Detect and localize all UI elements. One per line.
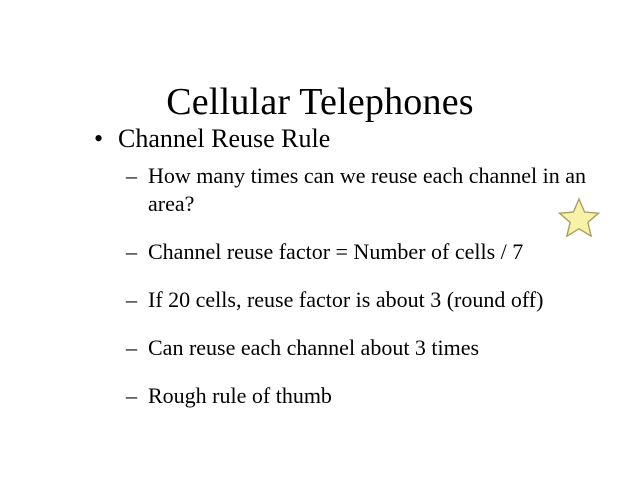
bullet-dash-icon: –	[126, 286, 137, 314]
bullet-level2-label: Can reuse each channel about 3 times	[148, 334, 600, 362]
list-item: – Can reuse each channel about 3 times	[0, 334, 640, 362]
presentation-slide: Cellular Telephones • Channel Reuse Rule…	[0, 0, 640, 480]
list-item: – If 20 cells, reuse factor is about 3 (…	[0, 286, 640, 314]
page-title: Cellular Telephones	[0, 79, 640, 125]
bullet-dash-icon: –	[126, 238, 137, 266]
bullet-dash-icon: –	[126, 382, 137, 410]
bullet-level2-label: Channel reuse factor = Number of cells /…	[148, 238, 600, 266]
list-item: – Channel reuse factor = Number of cells…	[0, 238, 640, 266]
bullet-level1-item: • Channel Reuse Rule	[0, 122, 640, 156]
bullet-level2-label: Rough rule of thumb	[148, 382, 600, 410]
bullet-dash-icon: –	[126, 334, 137, 362]
bullet-level1-label: Channel Reuse Rule	[118, 124, 330, 153]
bullet-level2-list: – How many times can we reuse each chann…	[0, 162, 640, 410]
bullet-level2-label: If 20 cells, reuse factor is about 3 (ro…	[148, 286, 600, 314]
slide-body: • Channel Reuse Rule – How many times ca…	[0, 122, 640, 410]
bullet-dash-icon: –	[126, 162, 137, 190]
list-item: – Rough rule of thumb	[0, 382, 640, 410]
bullet-dot-icon: •	[94, 122, 103, 156]
list-item: – How many times can we reuse each chann…	[0, 162, 640, 218]
bullet-level2-label: How many times can we reuse each channel…	[148, 162, 600, 218]
